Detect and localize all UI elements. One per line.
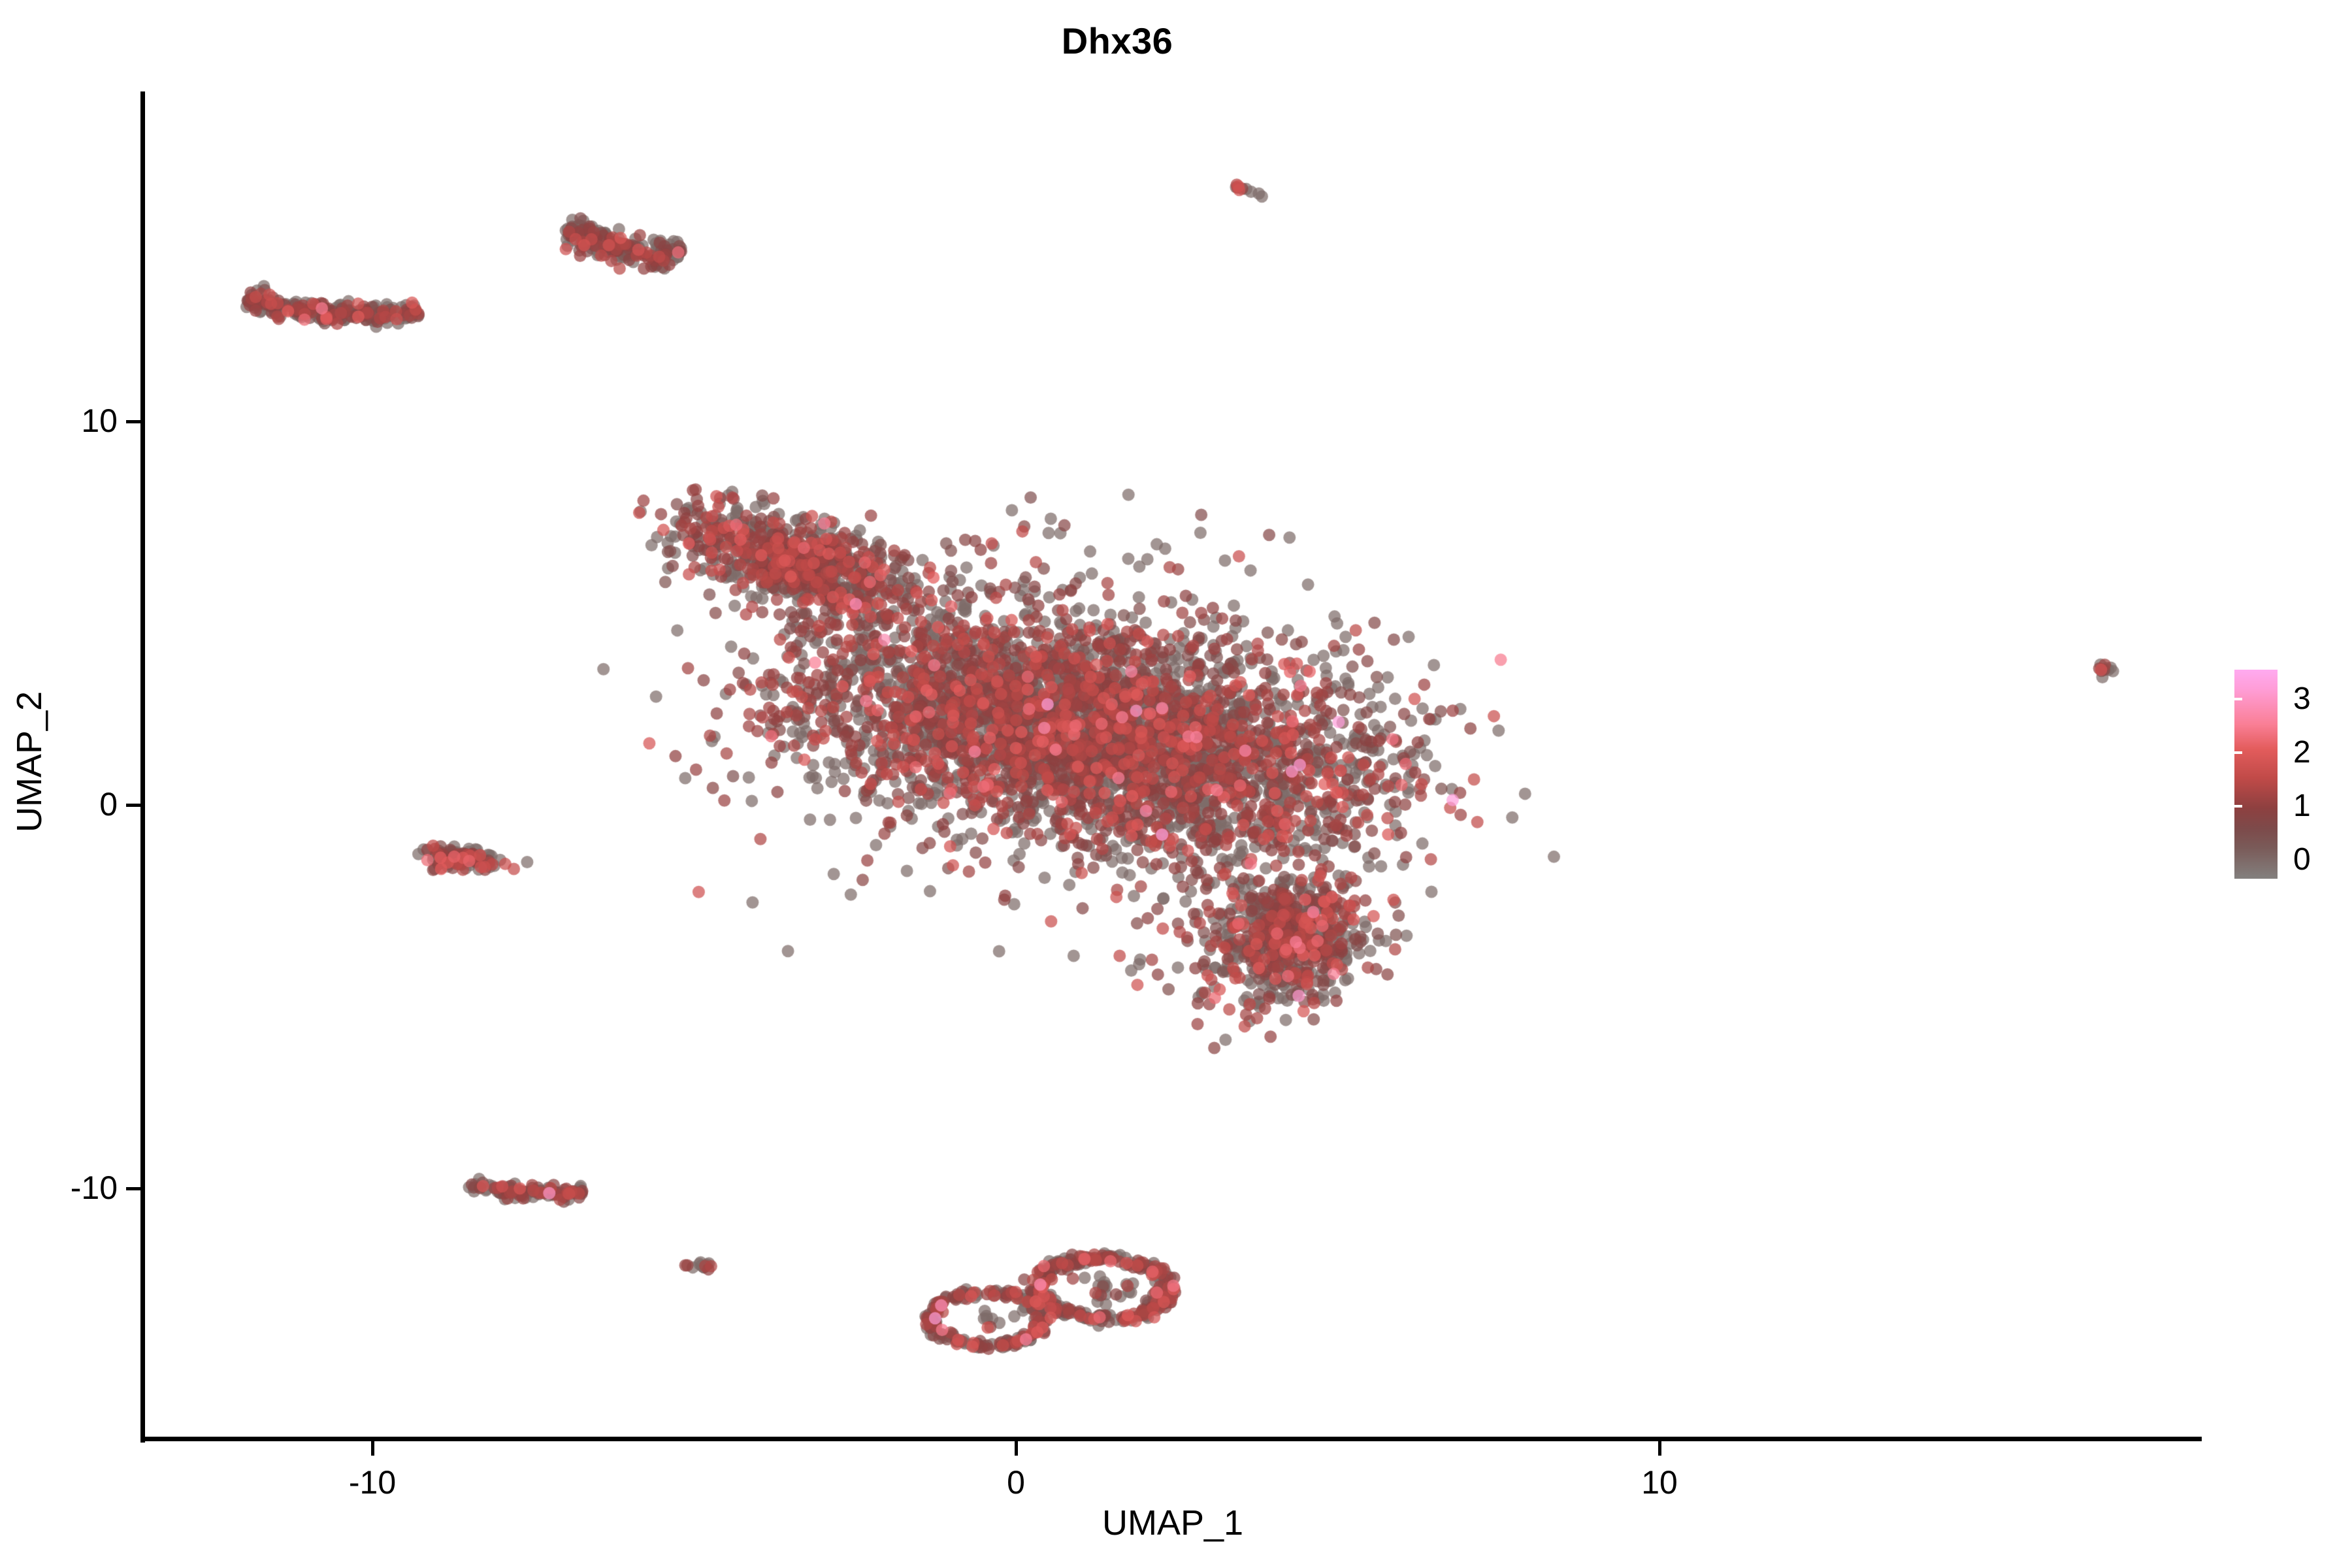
colorbar-tick-mark [2338,805,2345,808]
x-tick-mark [371,1441,374,1456]
x-tick-label: 0 [951,1463,1081,1501]
colorbar-tick-label: 0 [2293,844,2311,875]
scatter-plot-panel [144,91,2202,1439]
colorbar-gradient [2234,670,2278,879]
colorbar-tick-mark [2234,805,2242,808]
y-axis-title: UMAP_2 [9,598,50,925]
y-tick-mark [126,420,140,423]
colorbar-tick-label: 2 [2293,737,2311,768]
colorbar-tick-label: 1 [2293,791,2311,822]
x-tick-label: 10 [1594,1463,1725,1501]
x-tick-mark [1658,1441,1661,1456]
page-title: Dhx36 [0,20,2234,62]
colorbar-tick-mark [2234,751,2242,754]
colorbar-tick-mark [2234,698,2242,700]
feature-plot-figure: Dhx36 -10010 -10010 UMAP_1 UMAP_2 0123 [0,0,2352,1568]
x-tick-label: -10 [307,1463,438,1501]
y-tick-label: -10 [13,1169,118,1207]
colorbar-tick-mark [2338,698,2345,700]
y-tick-mark [126,804,140,807]
x-tick-mark [1015,1441,1018,1456]
scatter-points-layer [144,91,2202,1439]
colorbar-tick-label: 3 [2293,683,2311,715]
y-tick-label: 10 [13,402,118,440]
y-axis-line [140,91,145,1443]
colorbar-legend: 0123 [2234,670,2345,885]
y-tick-mark [126,1187,140,1190]
x-axis-title: UMAP_1 [144,1503,2202,1543]
x-axis-line [142,1437,2202,1441]
colorbar-tick-mark [2338,751,2345,754]
